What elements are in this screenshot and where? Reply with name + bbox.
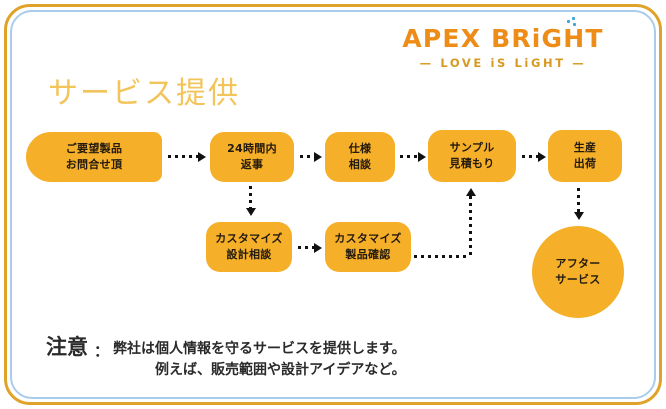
flow-node-production-line1: 生産 (574, 140, 597, 156)
flow-node-custom-check: カスタマイズ 製品確認 (325, 222, 411, 272)
logo-sparkle-dots-icon (566, 17, 578, 28)
flow-node-production: 生産 出荷 (548, 130, 622, 182)
flow-node-after-service: アフター サービス (532, 226, 624, 318)
flow-node-reply-line1: 24時間内 (227, 141, 277, 157)
flow-node-spec: 仕様 相談 (325, 132, 395, 182)
note-label: 注意 (46, 336, 88, 359)
note-body: 弊社は個人情報を守るサービスを提供します。 例えば、販売範囲や設計アイデアなど。 (113, 339, 406, 381)
note-block: 注意 ： 弊社は個人情報を守るサービスを提供します。 例えば、販売範囲や設計アイ… (46, 336, 406, 381)
flow-node-sample-line1: サンプル (450, 140, 495, 156)
note-colon: ： (94, 340, 109, 361)
brand-logo-tagline: — LOVE iS LiGHT — (388, 56, 618, 70)
page-title: サービス提供 (48, 68, 240, 112)
flow-node-inquiry-line1: ご要望製品 (66, 141, 123, 157)
flow-node-after-service-line2: サービス (555, 272, 600, 288)
flow-node-custom-check-line1: カスタマイズ (334, 231, 401, 247)
flow-node-inquiry: ご要望製品 お問合せ頂 (26, 132, 162, 182)
flow-node-custom-check-line2: 製品確認 (345, 247, 390, 263)
flow-node-reply-line2: 返事 (241, 157, 264, 173)
brand-logo-wordmark: APEX BRiGHT (388, 26, 618, 51)
note-body-line2: 例えば、販売範囲や設計アイデアなど。 (113, 360, 406, 381)
flow-node-custom-design-line1: カスタマイズ (215, 231, 282, 247)
flow-node-sample: サンプル 見積もり (428, 130, 516, 182)
flow-node-spec-line1: 仕様 (349, 141, 372, 157)
flow-node-spec-line2: 相談 (349, 157, 372, 173)
brand-logo: APEX BRiGHT — LOVE iS LiGHT — (388, 26, 618, 70)
note-body-line1: 弊社は個人情報を守るサービスを提供します。 (113, 341, 406, 357)
flow-node-inquiry-line2: お問合せ頂 (66, 157, 123, 173)
flow-node-custom-design: カスタマイズ 設計相談 (206, 222, 292, 272)
flow-node-custom-design-line2: 設計相談 (226, 247, 271, 263)
slide-canvas: APEX BRiGHT — LOVE iS LiGHT — サービス提供 ご要望… (0, 0, 666, 409)
flow-node-sample-line2: 見積もり (449, 156, 494, 172)
flow-node-production-line2: 出荷 (574, 156, 597, 172)
flow-node-after-service-line1: アフター (555, 256, 600, 272)
flow-node-reply: 24時間内 返事 (210, 132, 294, 182)
